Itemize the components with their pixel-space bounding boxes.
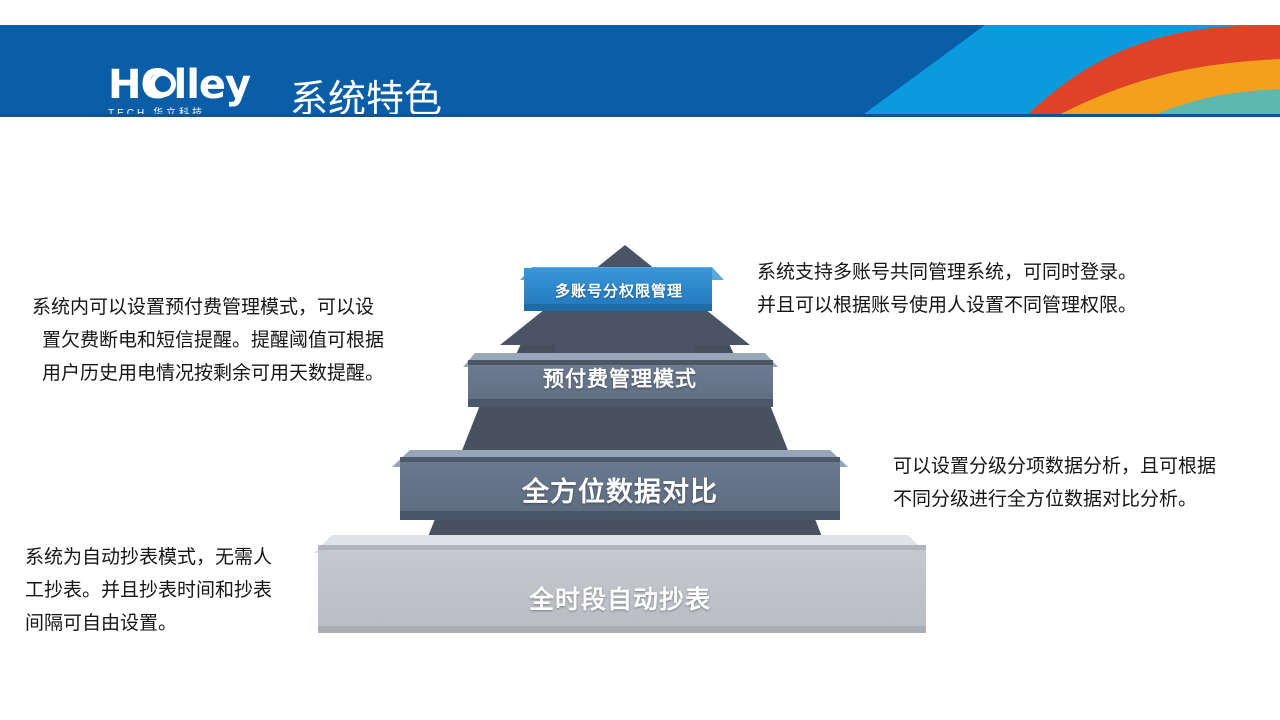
tier-label-prepaid: 预付费管理模式 <box>470 363 770 393</box>
callout-right-top-line2: 并且可以根据账号使用人设置不同管理权限。 <box>757 289 1197 322</box>
holley-logo: HOlley TECH 华立科技 <box>108 65 258 117</box>
logo-wordmark: HOlley <box>108 65 258 105</box>
tier-label-multi-account: 多账号分权限管理 <box>524 280 714 301</box>
callout-right-bottom: 可以设置分级分项数据分析，且可根据 不同分级进行全方位数据对比分析。 <box>893 450 1280 516</box>
callout-left-bottom: 系统为自动抄表模式，无需人 工抄表。并且抄表时间和抄表 间隔可自由设置。 <box>25 541 325 640</box>
callout-right-bottom-line2: 不同分级进行全方位数据对比分析。 <box>893 483 1280 516</box>
callout-left-top-line1: 系统内可以设置预付费管理模式，可以设 <box>32 291 442 324</box>
callout-left-bottom-line2: 工抄表。并且抄表时间和抄表 <box>25 574 325 607</box>
tier-label-auto-meter-reading: 全时段自动抄表 <box>315 580 925 616</box>
tier-label-data-comparison: 全方位数据对比 <box>400 470 840 509</box>
page-title: 系统特色 <box>290 73 442 117</box>
callout-left-bottom-line3: 间隔可自由设置。 <box>25 607 325 640</box>
callout-left-top-line2: 置欠费断电和短信提醒。提醒阈值可根据 <box>42 324 442 357</box>
header-bottom-edge <box>0 114 1280 117</box>
callout-right-bottom-line1: 可以设置分级分项数据分析，且可根据 <box>893 450 1280 483</box>
logo-ring-icon <box>150 71 176 97</box>
callout-left-top-line3: 用户历史用电情况按剩余可用天数提醒。 <box>42 357 442 390</box>
callout-left-bottom-line1: 系统为自动抄表模式，无需人 <box>25 541 325 574</box>
decorative-ribbon <box>810 25 1280 117</box>
callout-right-top-line1: 系统支持多账号共同管理系统，可同时登录。 <box>757 256 1197 289</box>
callout-right-top: 系统支持多账号共同管理系统，可同时登录。 并且可以根据账号使用人设置不同管理权限… <box>757 256 1197 322</box>
header-bar: HOlley TECH 华立科技 系统特色 <box>0 25 1280 117</box>
callout-left-top: 系统内可以设置预付费管理模式，可以设 置欠费断电和短信提醒。提醒阈值可根据 用户… <box>32 291 442 390</box>
